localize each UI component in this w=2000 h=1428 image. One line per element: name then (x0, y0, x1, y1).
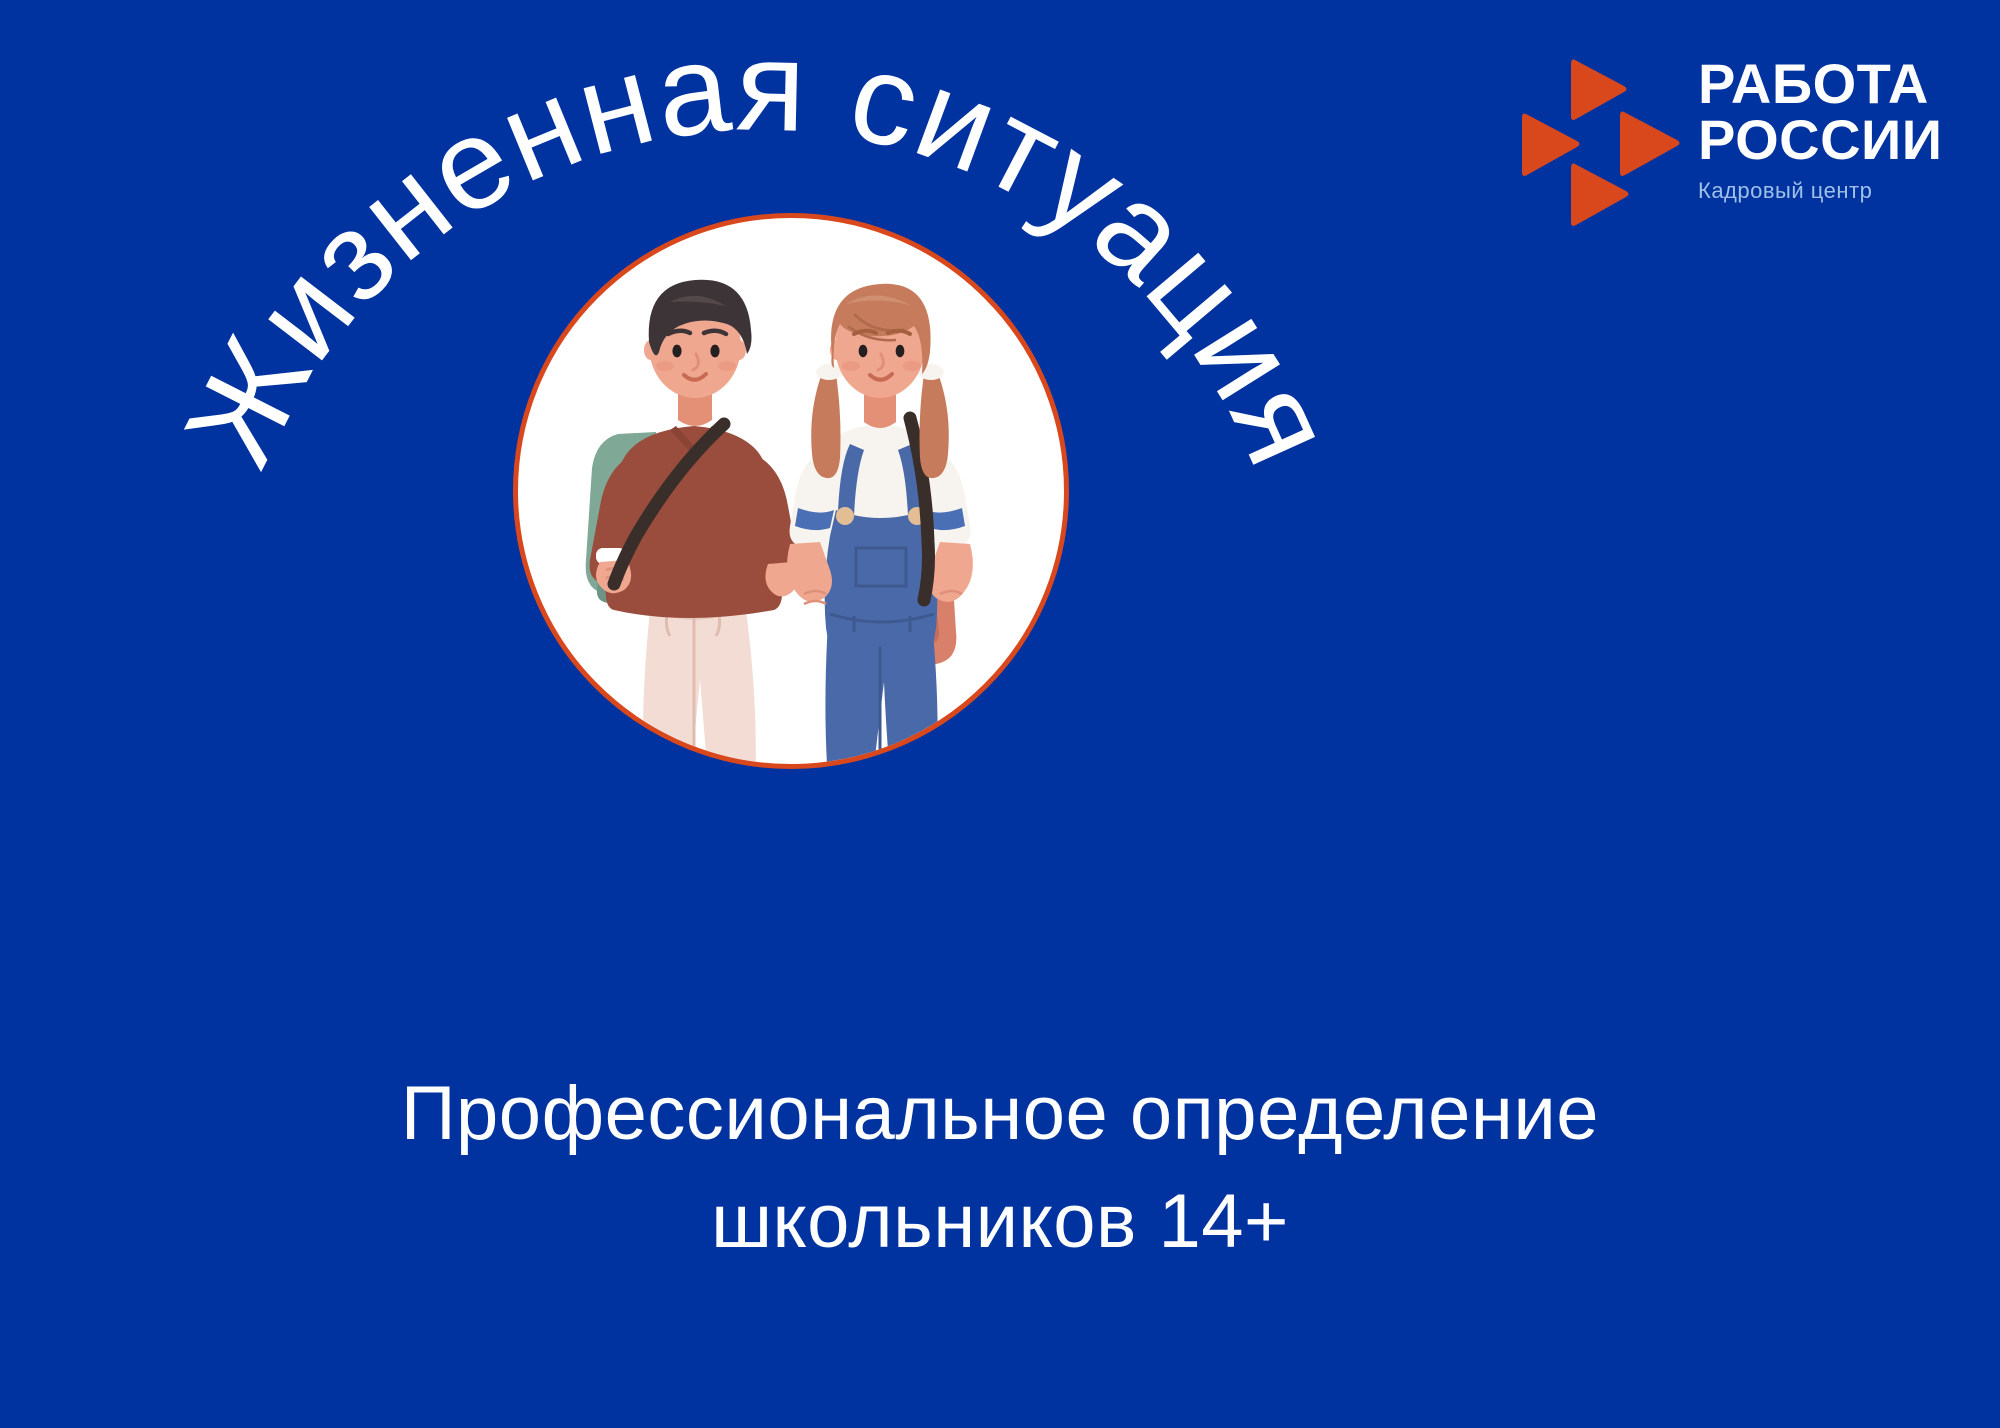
brand-name-line2: РОССИИ (1698, 112, 1968, 168)
brand-name-line1: РАБОТА (1698, 56, 1968, 112)
rabota-rossii-logo-icon (1520, 52, 1696, 228)
poster-caption: Профессиональное определение школьников … (0, 1060, 2000, 1276)
caption-line-1: Профессиональное определение (0, 1060, 2000, 1168)
brand-logo: РАБОТА РОССИИ Кадровый центр (1520, 52, 1970, 232)
poster-canvas: Жизненная ситуация (0, 0, 2000, 1428)
illustration-medallion (513, 213, 1069, 769)
brand-wordmark: РАБОТА РОССИИ Кадровый центр (1698, 56, 1968, 206)
girl-figure (787, 284, 973, 764)
caption-line-2: школьников 14+ (0, 1168, 2000, 1276)
boy-figure (586, 280, 799, 764)
brand-tagline: Кадровый центр (1698, 176, 1968, 206)
students-illustration (518, 218, 1064, 764)
